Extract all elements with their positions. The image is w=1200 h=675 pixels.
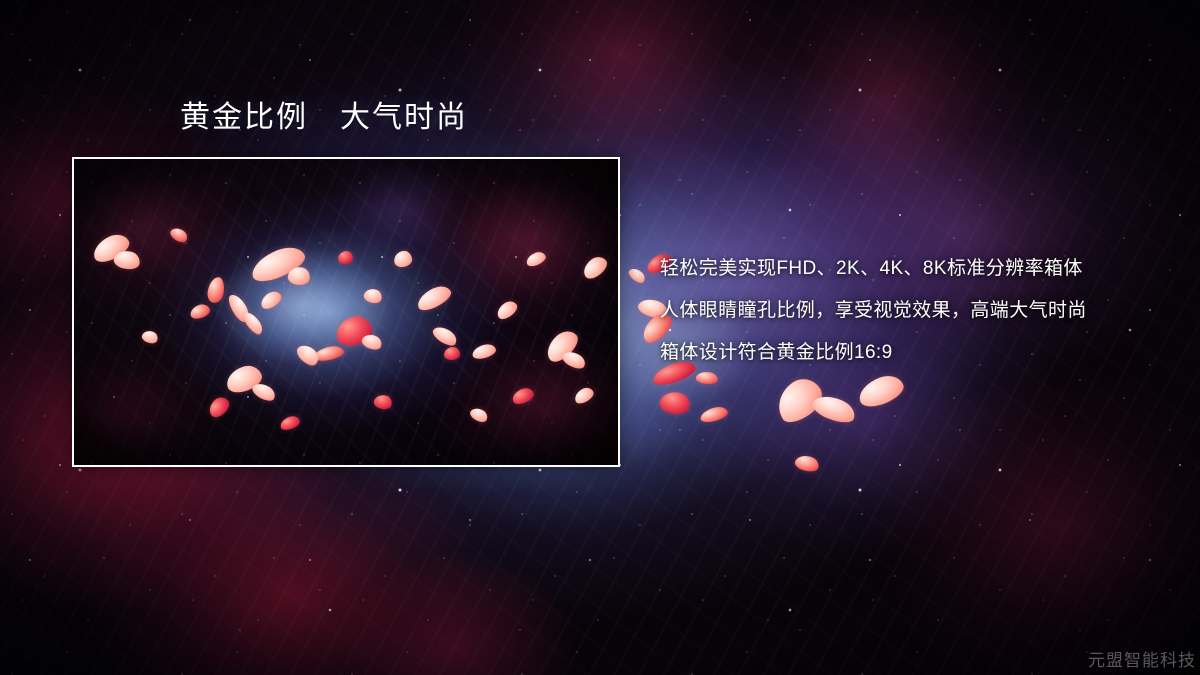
petal-decoration [699, 405, 729, 424]
body-copy-block: 轻松完美实现FHD、2K、4K、8K标准分辨率箱体 人体眼睛瞳孔比例，享受视觉效… [660, 248, 1160, 374]
petal-decoration [793, 453, 820, 474]
petal-decoration [769, 372, 829, 429]
petal-decoration [627, 266, 648, 286]
watermark-label: 元盟智能科技 [1088, 646, 1196, 671]
slide-canvas: 黄金比例 大气时尚 [0, 0, 1200, 675]
panel-vignette [74, 159, 618, 465]
page-title: 黄金比例 大气时尚 [180, 100, 468, 136]
petal-decoration [855, 371, 907, 411]
body-copy-line-1: 轻松完美实现FHD、2K、4K、8K标准分辨率箱体 [660, 248, 1160, 290]
petal-decoration [809, 391, 858, 428]
body-copy-line-2: 人体眼睛瞳孔比例，享受视觉效果，高端大气时尚 [660, 290, 1160, 332]
body-copy-line-3: 箱体设计符合黄金比例16:9 [660, 332, 1160, 374]
petal-decoration [658, 389, 692, 417]
framed-image-panel [72, 157, 620, 467]
